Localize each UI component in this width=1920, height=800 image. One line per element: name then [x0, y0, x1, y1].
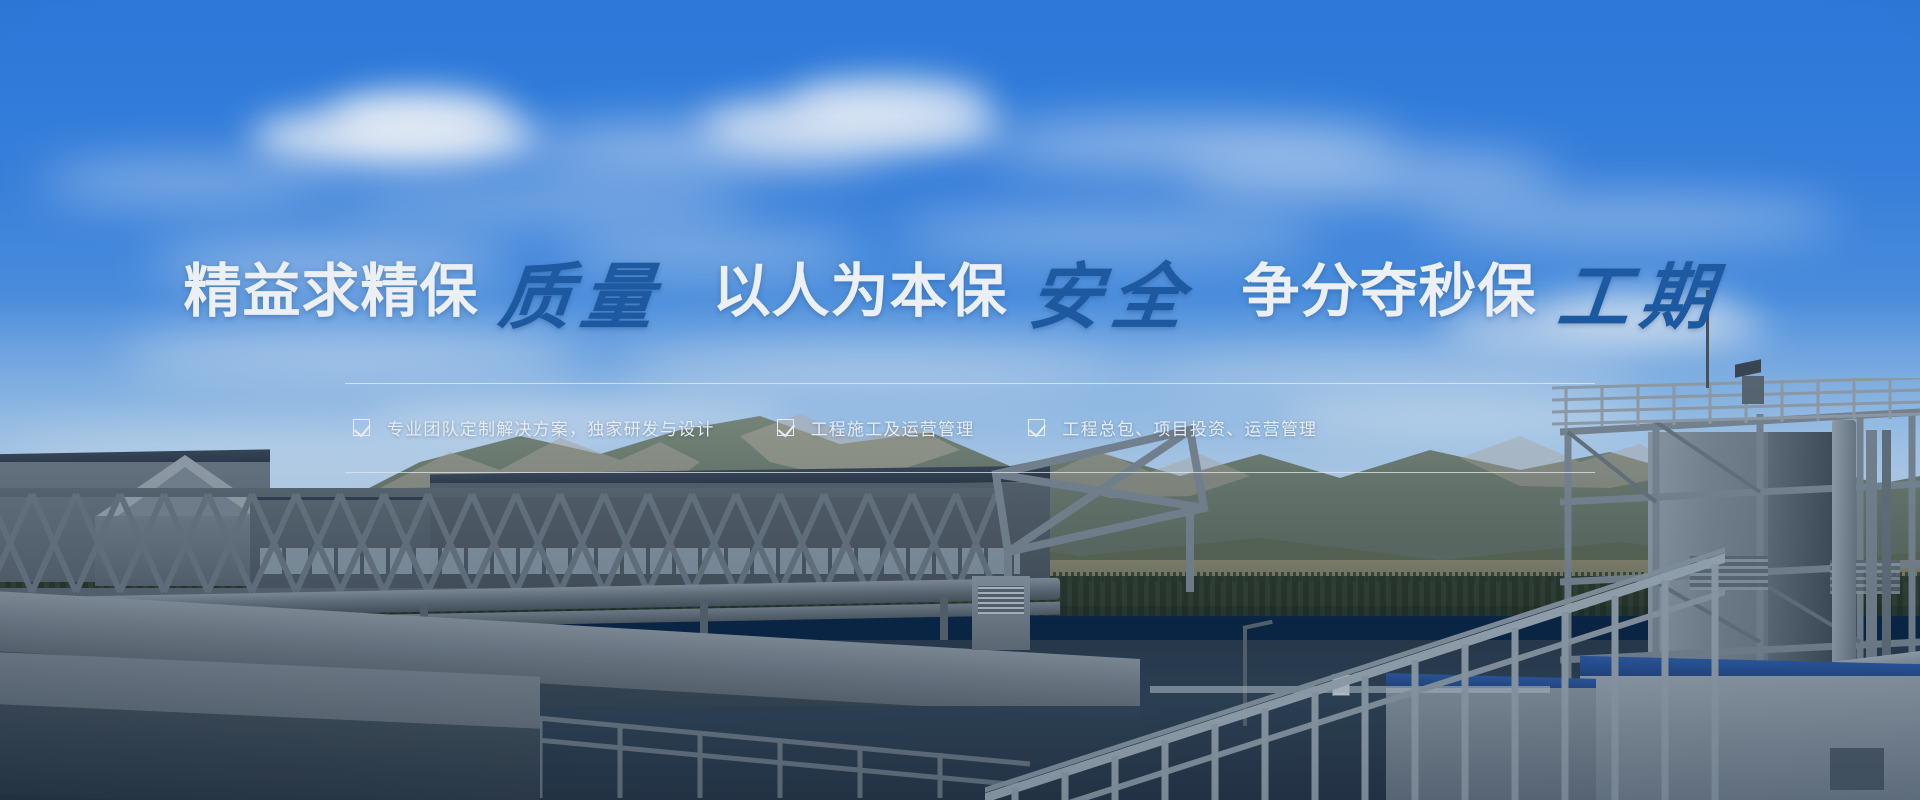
street-lamp-arm: [1243, 620, 1273, 630]
headline-brush-safety: 安全: [1024, 238, 1199, 343]
divider-bottom: [345, 472, 1595, 473]
headline: 精益求精保 质量 以人为本保 安全 争分夺秒保 工期: [0, 238, 1920, 334]
cloud-shape: [330, 92, 510, 144]
pipe-support: [940, 596, 948, 716]
feature-label: 工程总包、项目投资、运营管理: [1062, 415, 1317, 440]
basin-water-surface: [260, 706, 1160, 800]
control-kiosk: [972, 576, 1030, 650]
feature-item-solutions: 专业团队定制解决方案，独家研发与设计: [353, 415, 715, 440]
concrete-deck: [0, 651, 540, 800]
cloud-shape: [1420, 196, 1840, 242]
street-lamp-pole: [1243, 628, 1247, 726]
hero-banner: 精益求精保 质量 以人为本保 安全 争分夺秒保 工期 专业团队定制解决方案，独家…: [0, 0, 1920, 800]
blue-roof-building-wall: [1386, 688, 1596, 800]
treeline: [0, 576, 1920, 616]
headline-brush-schedule: 工期: [1553, 238, 1728, 343]
headline-brush-quality: 质量: [495, 238, 670, 343]
control-kiosk-grille: [978, 586, 1024, 614]
headline-plain-schedule: 争分夺秒保: [1242, 244, 1537, 328]
grating-panel: [1830, 560, 1900, 594]
grating-panel: [1690, 556, 1768, 590]
feature-item-epc: 工程总包、项目投资、运营管理: [1028, 415, 1317, 440]
headline-plain-quality: 精益求精保: [183, 244, 478, 328]
valley-plain: [0, 560, 1920, 606]
deck-edge-shadow: [0, 703, 540, 800]
cloud-shape: [330, 182, 750, 222]
road-sign: [1332, 674, 1350, 696]
feature-label: 工程施工及运营管理: [811, 415, 975, 440]
cloud-shape: [1180, 150, 1560, 202]
highway-guardrail: [1150, 686, 1550, 693]
checked-box-icon: [1028, 419, 1045, 436]
pipe-support: [195, 610, 203, 688]
basin-wall-shadow: [0, 649, 1140, 800]
grating-panel: [1690, 672, 1790, 708]
feature-label: 专业团队定制解决方案，独家研发与设计: [387, 415, 715, 440]
feature-item-construction: 工程施工及运营管理: [777, 415, 975, 440]
basin-scraper-bridge: [420, 690, 1040, 800]
cloud-shape: [790, 78, 990, 130]
building-window: [1830, 748, 1884, 790]
treeline-top: [0, 572, 1920, 582]
cloud-shape: [40, 160, 340, 204]
headline-plain-safety: 以人为本保: [712, 244, 1007, 328]
process-pipe: [0, 578, 1060, 621]
blue-roof-building-wall: [1580, 676, 1920, 800]
checked-box-icon: [777, 419, 794, 436]
pipe-support: [420, 606, 428, 698]
process-pipe-secondary: [0, 602, 1060, 636]
feature-list: 专业团队定制解决方案，独家研发与设计 工程施工及运营管理 工程总包、项目投资、运…: [345, 396, 1595, 458]
blue-roof-building: [1386, 673, 1596, 695]
pipe-support: [700, 600, 708, 710]
blue-roof-building: [1580, 656, 1920, 684]
checked-box-icon: [353, 419, 370, 436]
basin-wall: [0, 589, 1140, 729]
divider-top: [345, 383, 1595, 384]
insulated-duct: [1699, 650, 1920, 704]
settling-basin-water: [0, 640, 1920, 800]
foreground-handrail: [985, 540, 1725, 800]
